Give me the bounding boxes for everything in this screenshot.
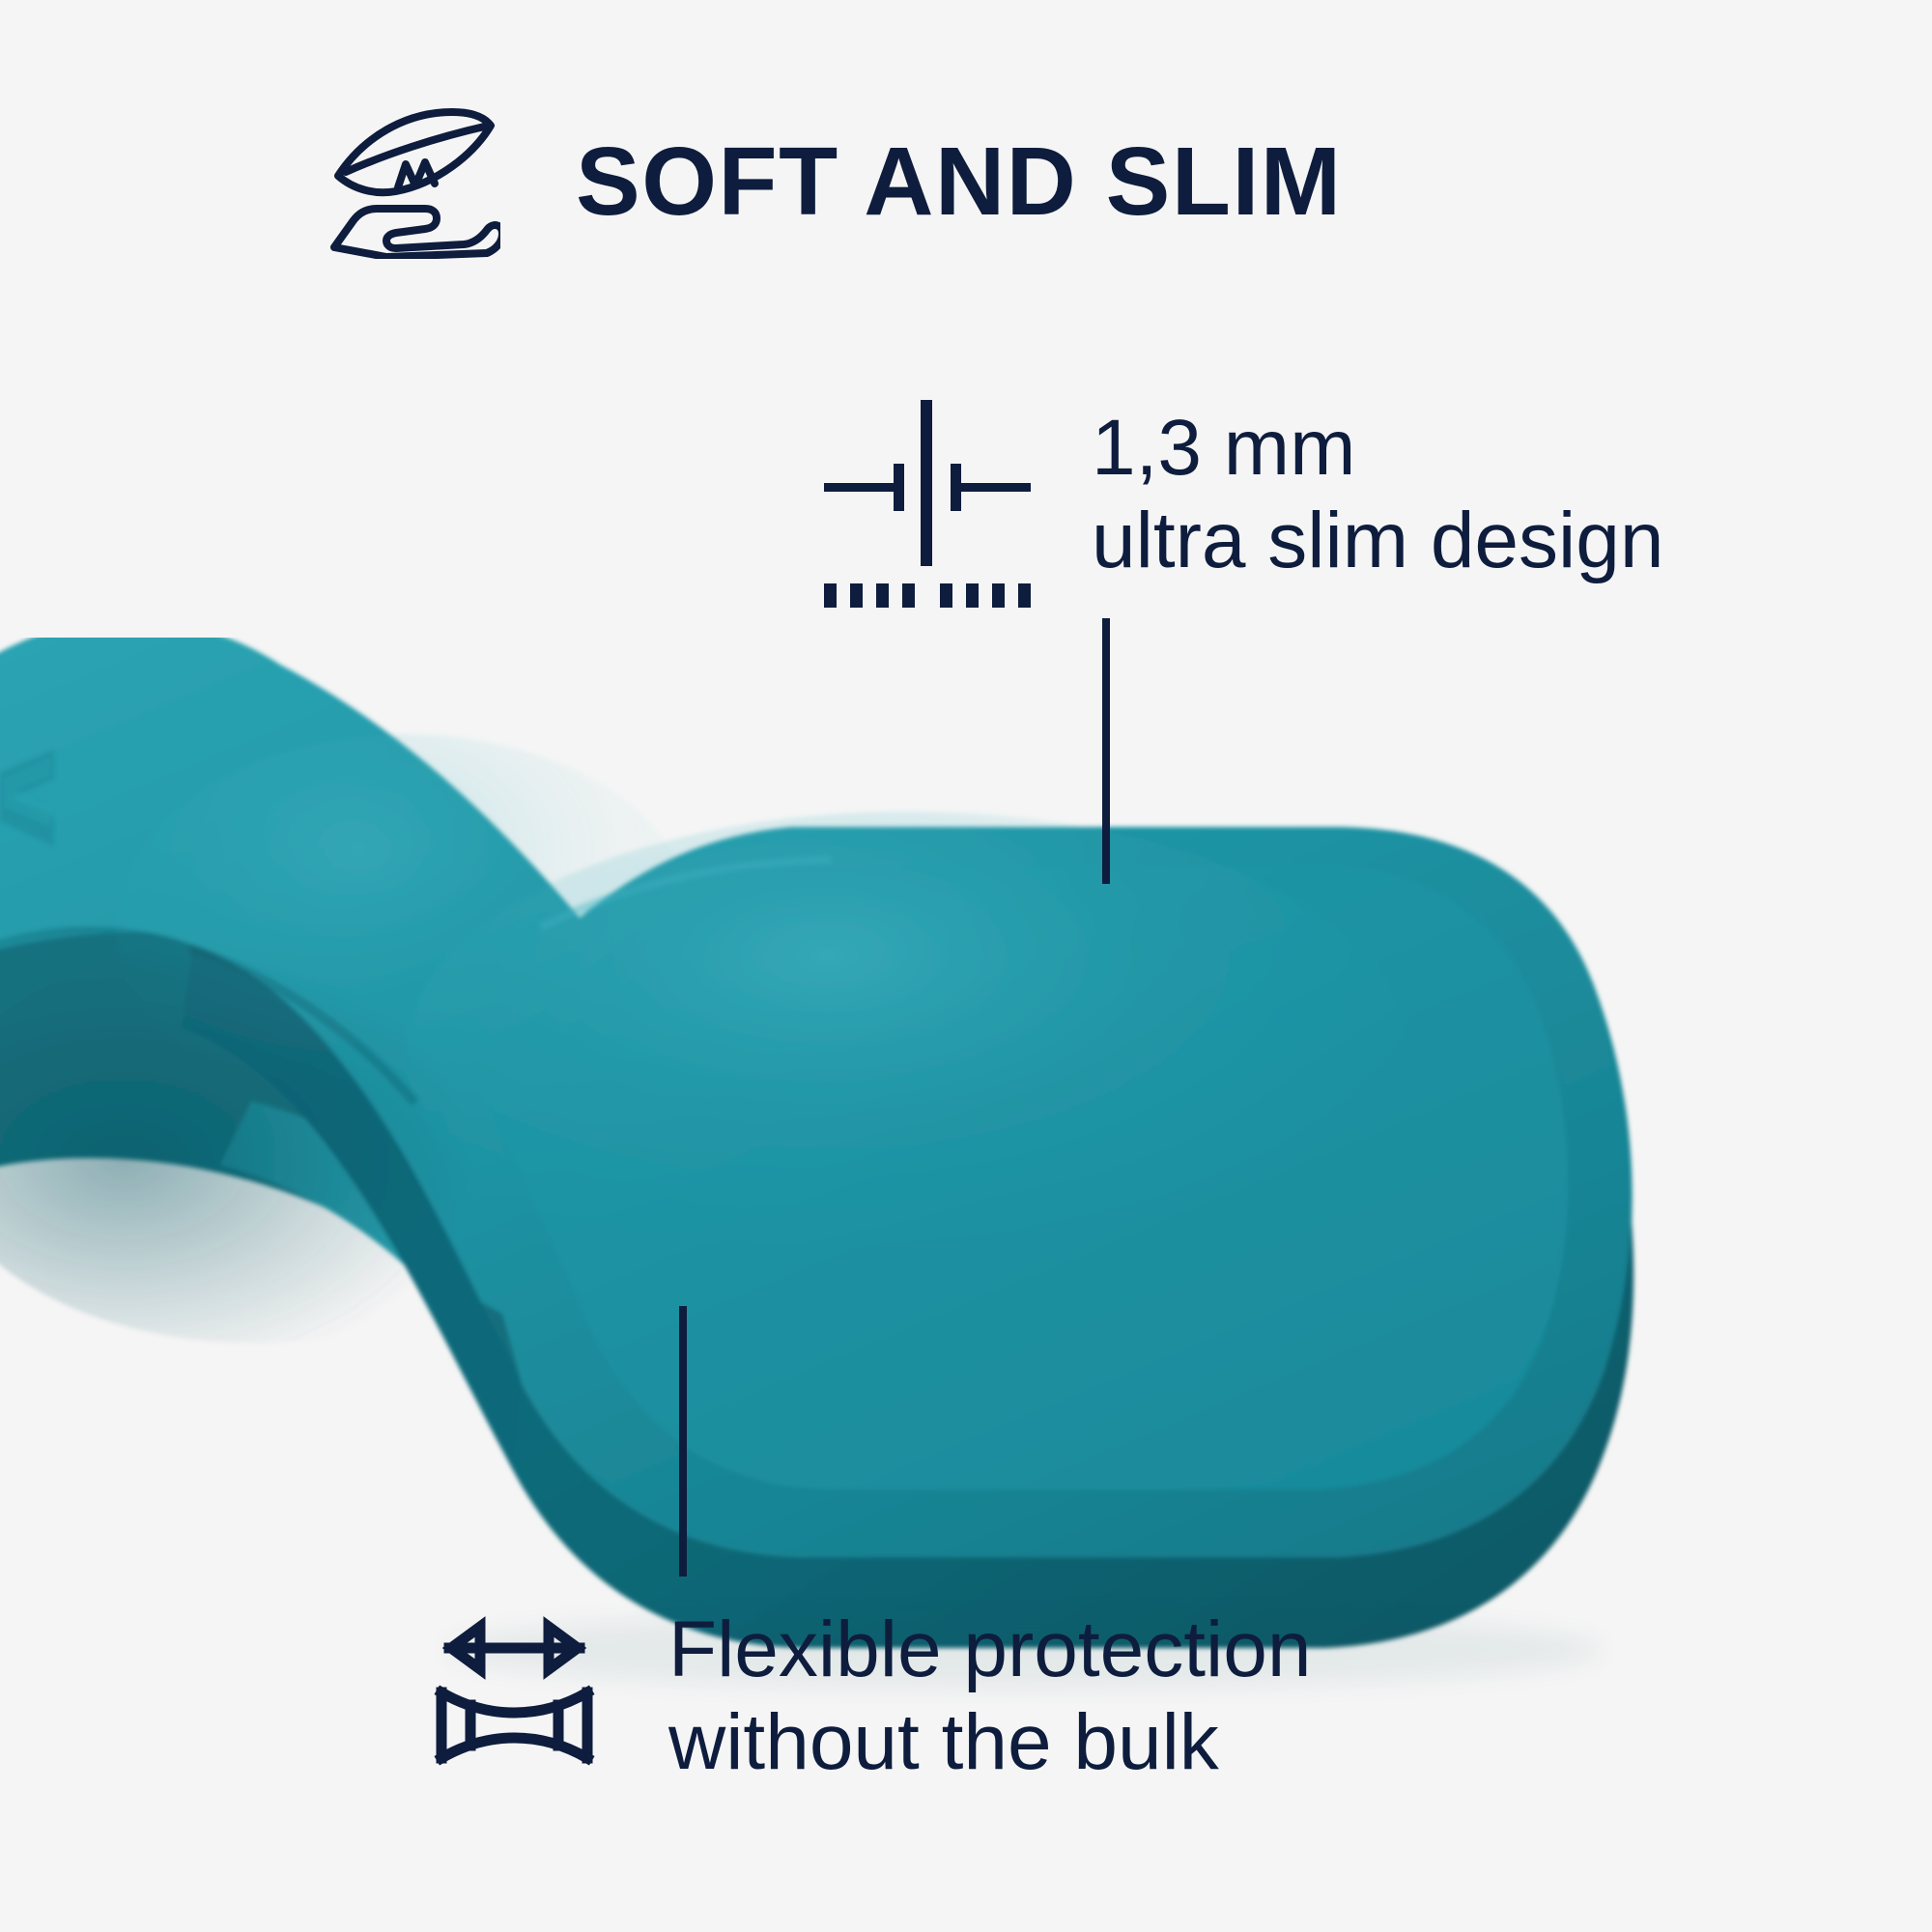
callout-flexibility: Flexible protection without the bulk [420,1604,1311,1789]
product-feature-graphic: SOFT AND SLIM [0,0,1932,1932]
page-title: SOFT AND SLIM [576,133,1343,230]
caliper-thickness-icon [816,394,1038,611]
callout-thickness: 1,3 mm ultra slim design [816,394,1663,611]
logo-emboss [0,750,54,846]
thickness-value-line: 1,3 mm [1092,402,1663,495]
feather-in-hand-icon [328,104,500,259]
stretch-arrows-icon [420,1611,609,1771]
header: SOFT AND SLIM [328,104,1343,259]
thickness-caption: 1,3 mm ultra slim design [1092,394,1663,587]
product-image-silicone-case [0,638,1719,1729]
flexibility-line-2: without the bulk [668,1696,1311,1789]
leader-line-thickness [1102,618,1110,884]
thickness-desc-line: ultra slim design [1092,495,1663,587]
flexibility-line-1: Flexible protection [668,1604,1311,1696]
flexibility-caption: Flexible protection without the bulk [668,1604,1311,1789]
leader-line-flexibility [679,1306,687,1577]
